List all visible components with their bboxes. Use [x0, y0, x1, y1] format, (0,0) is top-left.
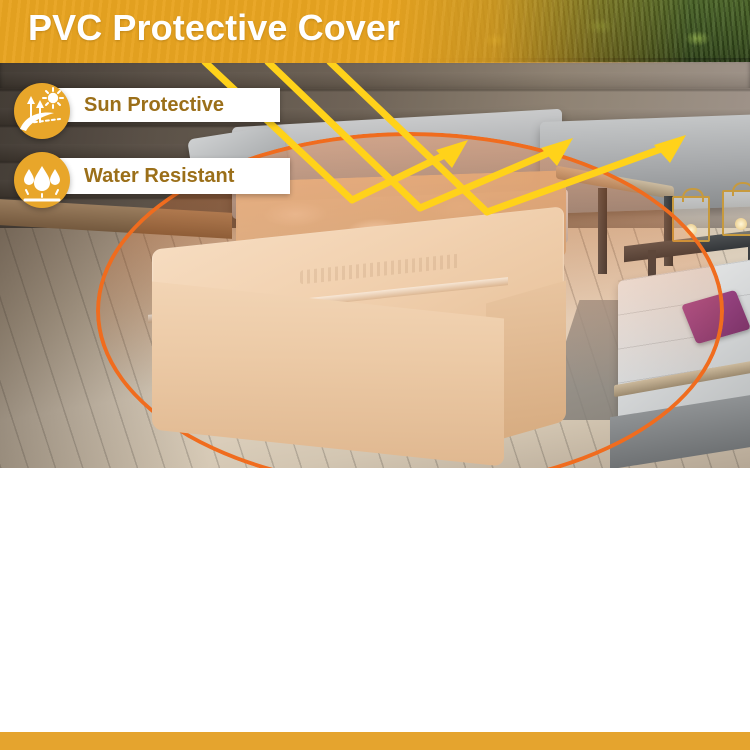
feature-label-water: Water Resistant — [84, 165, 234, 188]
outdoor-use-section: Ideal for Outdoor Use Courtyard — [0, 468, 750, 750]
lantern-candle — [735, 218, 747, 230]
feature-label-sun: Sun Protective — [84, 94, 224, 117]
footer-bar — [0, 732, 750, 750]
water-droplet-icon — [14, 152, 70, 208]
lantern-decor — [722, 190, 750, 236]
product-infographic: PVC Protective Cover Sun Protective — [0, 0, 750, 750]
feature-chip-water: Water Resistant — [44, 158, 290, 194]
sun-protection-icon — [14, 83, 70, 139]
hero-product-photo — [0, 0, 750, 468]
feature-chip-sun: Sun Protective — [44, 88, 280, 122]
page-title: PVC Protective Cover — [28, 7, 400, 49]
